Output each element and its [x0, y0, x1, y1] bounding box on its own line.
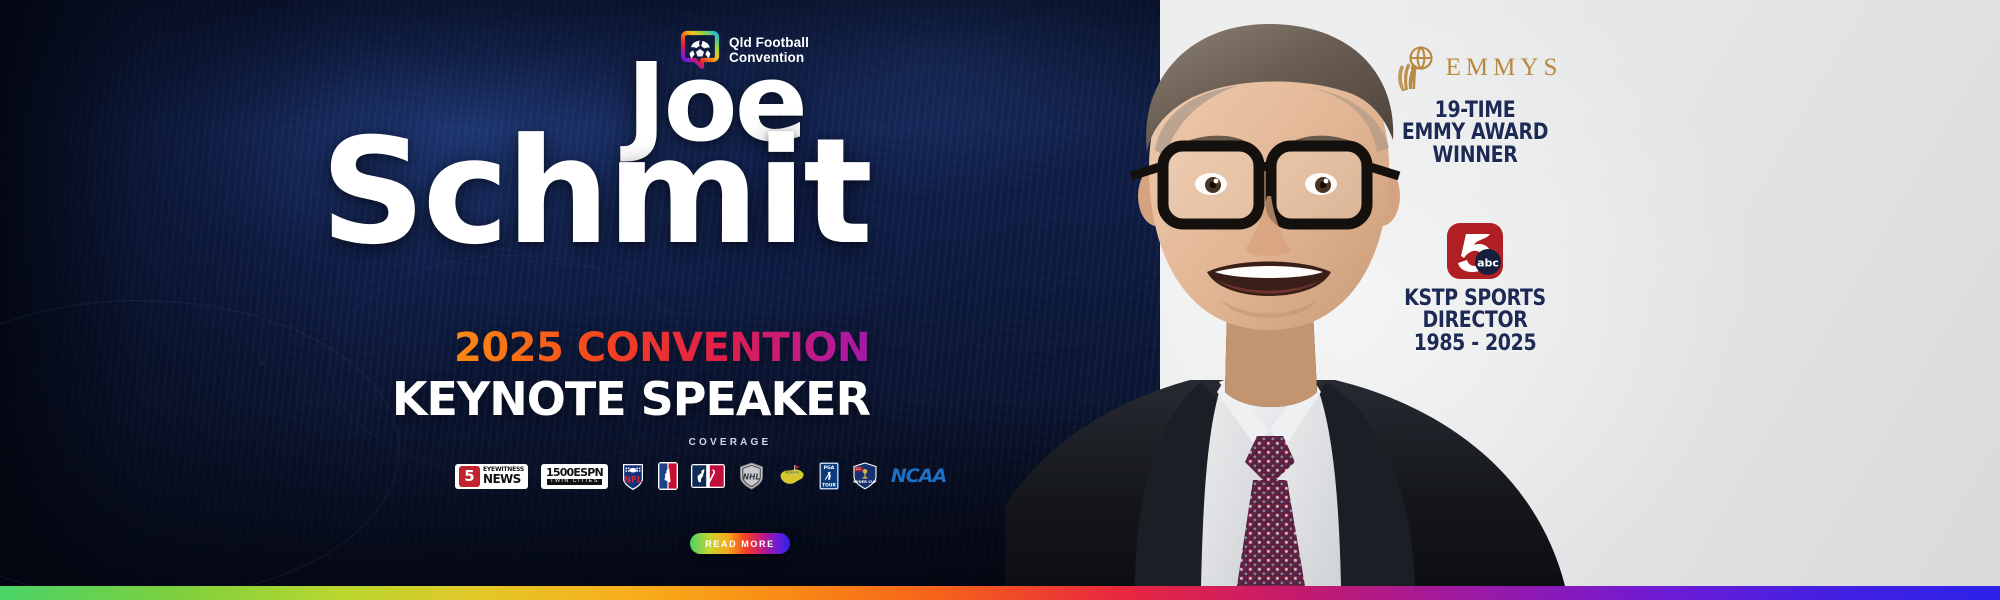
kstp-line-2: DIRECTOR — [1368, 310, 1583, 332]
coverage-logo-row: 5 EYEWITNESS NEWS 1500ESPN TWIN CITIES — [455, 455, 1015, 497]
speaker-last-name: Schmit — [0, 133, 1060, 253]
svg-text:NHL: NHL — [743, 473, 761, 482]
svg-text:PGA: PGA — [824, 465, 835, 471]
news-text: NEWS — [483, 473, 524, 485]
emmy-line-2: EMMY AWARD — [1368, 122, 1583, 144]
credential-kstp: abc KSTP SPORTS DIRECTOR 1985 - 2025 — [1350, 222, 1600, 355]
hero-banner: Qld Football Convention Joe Schmit 2025 … — [0, 0, 2000, 600]
emmy-credential-text: 19-TIME EMMY AWARD WINNER — [1368, 100, 1583, 167]
kstp-credential-text: KSTP SPORTS DIRECTOR 1985 - 2025 — [1368, 288, 1583, 355]
rainbow-accent-bar — [0, 586, 2000, 600]
convention-headline: 2025 CONVENTION — [0, 325, 1060, 371]
kstp-line-3: 1985 - 2025 — [1368, 333, 1583, 355]
speaker-name: Joe Schmit — [0, 60, 1060, 252]
kstp-5-eyewitness-news-icon: 5 EYEWITNESS NEWS — [455, 464, 528, 489]
the-masters-icon: Masters — [778, 463, 806, 489]
nhl-icon: NHL — [738, 463, 765, 489]
svg-text:RYDER CUP: RYDER CUP — [853, 480, 877, 484]
svg-text:Masters: Masters — [784, 469, 799, 474]
nba-icon — [658, 463, 678, 489]
coverage-label: COVERAGE — [520, 437, 940, 448]
1500-espn-twin-cities-icon: 1500ESPN TWIN CITIES — [541, 464, 608, 489]
kstp-five-glyph: 5 — [459, 466, 480, 487]
kstp-line-1: KSTP SPORTS — [1368, 288, 1583, 310]
svg-text:TOUR: TOUR — [822, 483, 836, 489]
svg-text:abc: abc — [1477, 257, 1499, 270]
read-more-button[interactable]: READ MORE — [690, 533, 790, 554]
espn-sub-text: TWIN CITIES — [547, 479, 602, 485]
kstp-5-abc-logo: abc — [1446, 222, 1504, 280]
svg-text:NFL: NFL — [624, 475, 643, 485]
emmys-logo: EMMYS — [1350, 40, 1600, 96]
ryder-cup-icon: RYDER CUP — [852, 463, 878, 489]
emmy-line-3: WINNER — [1368, 145, 1583, 167]
mlb-icon — [691, 463, 725, 489]
credential-emmy: EMMYS 19-TIME EMMY AWARD WINNER — [1350, 40, 1600, 167]
ncaa-icon: NCAA — [891, 463, 946, 489]
emmy-statuette-icon — [1388, 41, 1442, 95]
emmys-wordmark: EMMYS — [1446, 54, 1563, 82]
espn-main-text: 1500ESPN — [546, 467, 603, 478]
keynote-headline: KEYNOTE SPEAKER — [0, 372, 1060, 426]
emmy-line-1: 19-TIME — [1368, 100, 1583, 122]
pga-tour-icon: PGA TOUR — [819, 463, 839, 489]
nfl-icon: NFL — [621, 463, 645, 489]
